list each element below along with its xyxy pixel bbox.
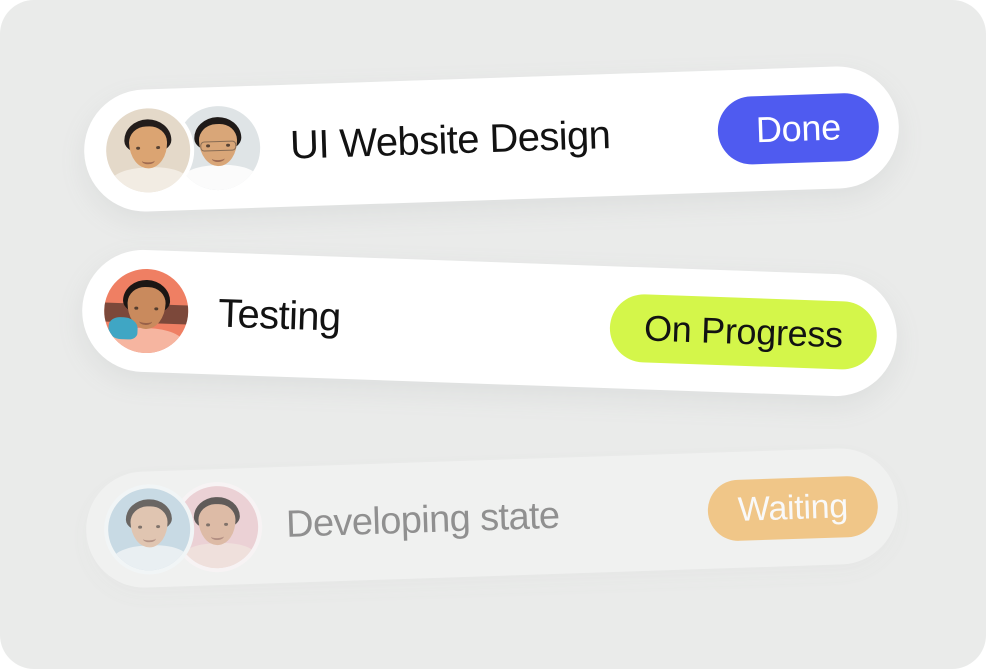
- assignee-avatar-group: [103, 481, 264, 576]
- status-badge[interactable]: Waiting: [707, 475, 879, 542]
- task-title: Testing: [217, 291, 611, 350]
- avatar-face-icon: [103, 268, 190, 355]
- avatar[interactable]: [101, 103, 196, 198]
- avatar-face-icon: [105, 107, 192, 194]
- status-badge[interactable]: On Progress: [609, 293, 878, 370]
- task-title: UI Website Design: [289, 109, 718, 168]
- avatar-face-icon: [107, 487, 192, 572]
- avatar[interactable]: [103, 483, 196, 576]
- task-card[interactable]: UI Website Design Done: [82, 65, 901, 214]
- task-title: Developing state: [285, 489, 708, 546]
- task-card[interactable]: Developing state Waiting: [84, 447, 899, 590]
- status-badge[interactable]: Done: [717, 92, 880, 165]
- assignee-avatar-group: [101, 101, 266, 198]
- assignee-avatar-group: [99, 263, 194, 358]
- avatar[interactable]: [99, 263, 194, 358]
- task-card[interactable]: Testing On Progress: [80, 248, 899, 398]
- task-board: UI Website Design Done Testing On Progre…: [0, 0, 986, 669]
